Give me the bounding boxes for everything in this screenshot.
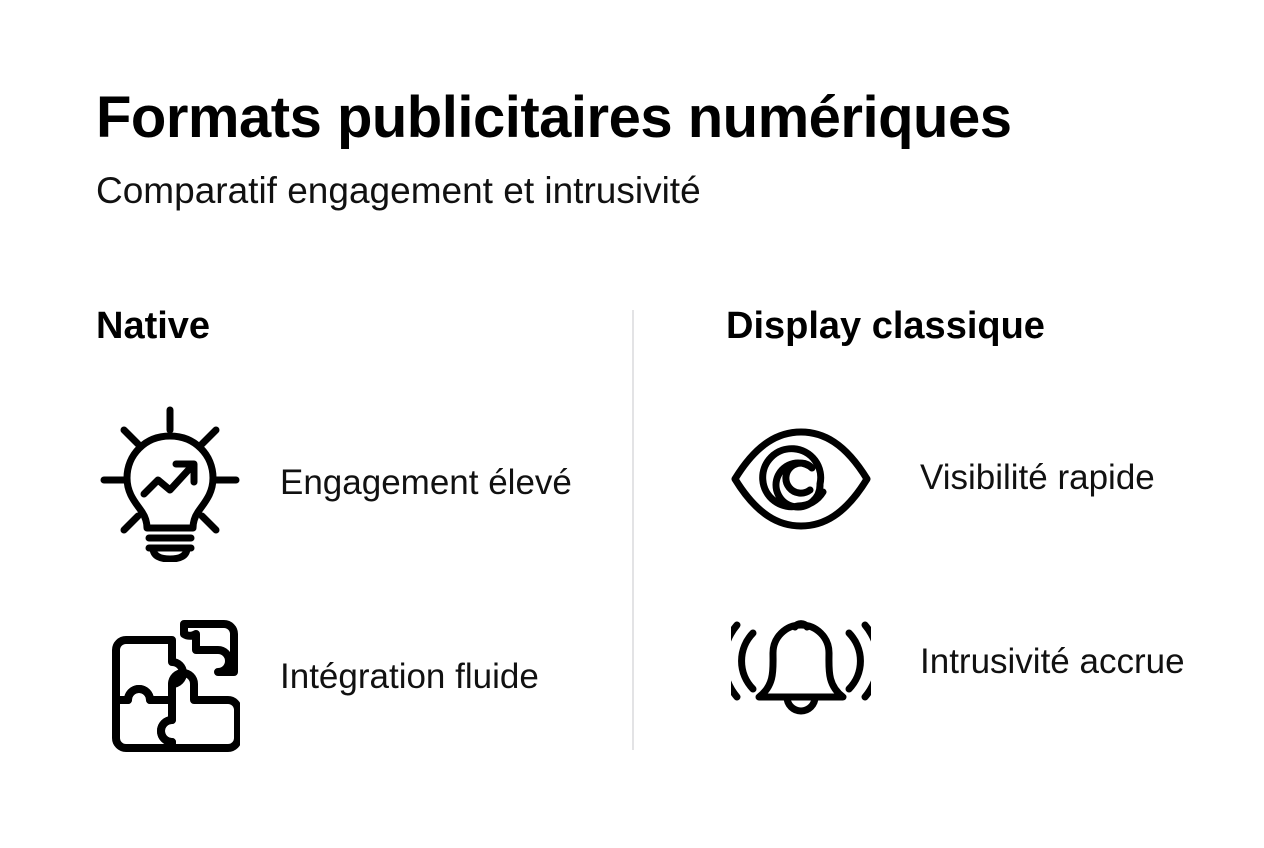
feature-row: Visibilité rapide (726, 404, 1186, 554)
feature-row: Engagement élevé (96, 404, 592, 564)
page-title: Formats publicitaires numériques (96, 86, 1186, 151)
slide-root: Formats publicitaires numériques Compara… (0, 0, 1264, 848)
lightbulb-growth-icon (96, 404, 244, 564)
feature-label: Intégration fluide (280, 655, 539, 700)
column-title-native: Native (96, 306, 592, 348)
column-title-display-classique: Display classique (726, 306, 1186, 348)
feature-row: Intégration fluide (96, 598, 592, 758)
puzzle-pieces-icon (96, 598, 244, 758)
page-subtitle: Comparatif engagement et intrusivité (96, 169, 1186, 213)
comparison-columns: Native (96, 306, 1186, 756)
feature-row: Intrusivité accrue (726, 588, 1186, 738)
ringing-bell-icon (726, 588, 876, 738)
column-native: Native (96, 306, 632, 756)
header: Formats publicitaires numériques Compara… (96, 86, 1186, 213)
feature-label: Visibilité rapide (920, 456, 1155, 501)
feature-label: Engagement élevé (280, 461, 572, 506)
feature-label: Intrusivité accrue (920, 640, 1185, 685)
column-display-classique: Display classique Visibilité rapide (632, 306, 1186, 756)
eye-spiral-icon (726, 404, 876, 554)
